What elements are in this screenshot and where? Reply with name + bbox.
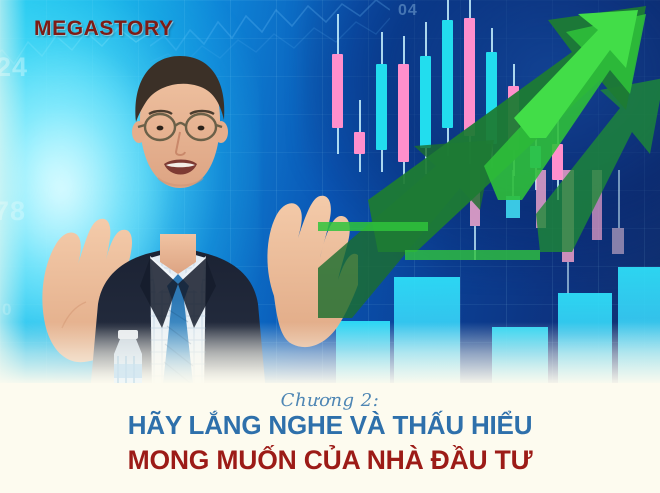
headline-line-1: HÃY LẮNG NGHE VÀ THẤU HIỂU [128,410,533,441]
cover-photo: 24 78 0 04 [0,0,660,392]
green-arrow-highlight [512,10,642,140]
headline-line-2: MONG MUỐN CỦA NHÀ ĐẦU TƯ [128,445,533,476]
green-bar-2 [405,250,540,260]
green-bar-1 [318,222,428,231]
megastory-cover: 24 78 0 04 [0,0,660,493]
head [132,56,228,188]
caption-block: Chương 2: HÃY LẮNG NGHE VÀ THẤU HIỂU MON… [0,383,660,493]
chapter-label: Chương 2: [281,390,380,411]
megastory-badge: MEGASTORY [34,17,174,41]
